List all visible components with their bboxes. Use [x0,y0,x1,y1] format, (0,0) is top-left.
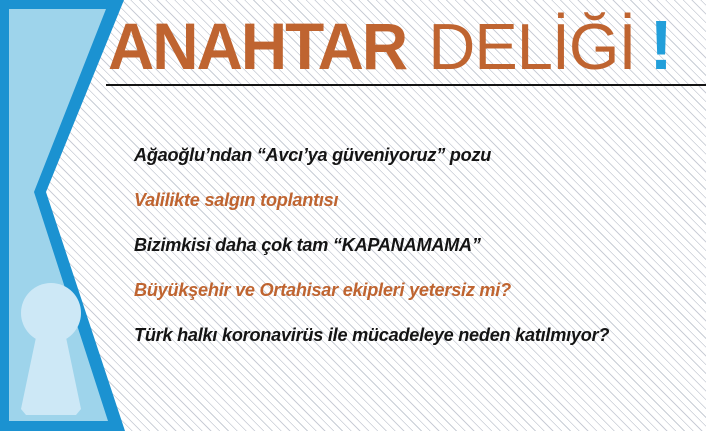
headline-item[interactable]: Bizimkisi daha çok tam “KAPANAMAMA” [134,222,683,267]
masthead-word-light: DELİĞİ [428,14,635,80]
keyhole-body-shape [18,323,84,415]
keyhole-icon [18,283,84,415]
anahtar-deligi-banner: ANAHTAR DELİĞİ ! Ağaoğlu’ndan “Avcı’ya g… [0,0,706,431]
headline-item[interactable]: Büyükşehir ve Ortahisar ekipleri yetersi… [134,267,683,312]
masthead-word-bold: ANAHTAR [108,13,406,79]
masthead-exclamation-mark: ! [650,12,673,78]
headline-list: Ağaoğlu’ndan “Avcı’ya güveniyoruz” pozu … [134,132,694,357]
headline-item[interactable]: Ağaoğlu’ndan “Avcı’ya güveniyoruz” pozu [134,132,683,177]
masthead-title: ANAHTAR DELİĞİ ! [108,12,673,78]
headline-item[interactable]: Valilikte salgın toplantısı [134,177,683,222]
masthead-divider-rule [106,84,706,86]
headline-item[interactable]: Türk halkı koronavirüs ile mücadeleye ne… [134,312,683,357]
